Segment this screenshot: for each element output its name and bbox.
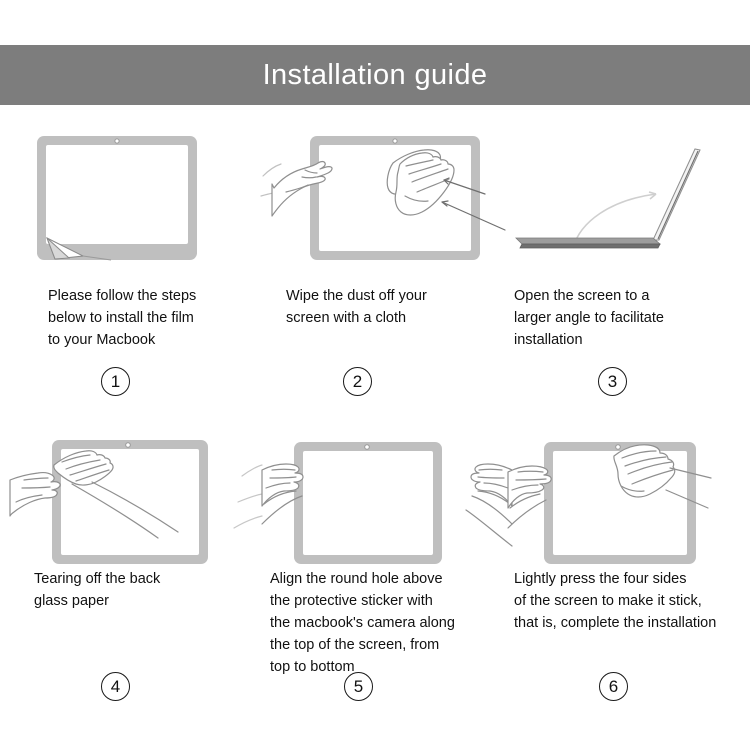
step-4-caption: Tearing off the back glass paper <box>34 568 249 612</box>
step-card-3: Open the screen to a larger angle to fac… <box>500 130 750 420</box>
step-card-5: Align the round hole above the protectiv… <box>250 420 500 720</box>
step-card-4: Tearing off the back glass paper 4 <box>0 420 250 720</box>
step-card-2: Wipe the dust off your screen with a clo… <box>250 130 500 420</box>
steps-grid: Please follow the steps below to install… <box>0 130 750 730</box>
laptop-lid-icon <box>653 149 700 240</box>
step-4-illustration <box>10 432 260 572</box>
step-3-number-badge: 3 <box>598 367 627 396</box>
step-card-1: Please follow the steps below to install… <box>0 130 250 420</box>
step-5-number-badge: 5 <box>344 672 373 701</box>
step-3-caption: Open the screen to a larger angle to fac… <box>514 285 750 351</box>
step-2-caption: Wipe the dust off your screen with a clo… <box>286 285 526 329</box>
page-title: Installation guide <box>263 61 488 90</box>
step-6-illustration <box>508 432 750 572</box>
step-6-number-badge: 6 <box>599 672 628 701</box>
step-2-number-badge: 2 <box>343 367 372 396</box>
installation-guide-page: Installation guide <box>0 0 750 750</box>
step-card-6: Lightly press the four sides of the scre… <box>500 420 750 720</box>
step-1-number-badge: 1 <box>101 367 130 396</box>
step-5-illustration <box>262 432 512 572</box>
laptop-base-icon <box>516 238 660 248</box>
step-5-caption: Align the round hole above the protectiv… <box>270 568 500 678</box>
step-3-illustration <box>510 130 750 270</box>
macbook-screen-icon <box>294 442 442 564</box>
macbook-screen-icon <box>37 136 197 260</box>
step-2-illustration <box>272 130 522 270</box>
step-4-number-badge: 4 <box>101 672 130 701</box>
step-1-illustration <box>25 130 275 270</box>
step-6-caption: Lightly press the four sides of the scre… <box>514 568 750 634</box>
header-band: Installation guide <box>0 45 750 105</box>
